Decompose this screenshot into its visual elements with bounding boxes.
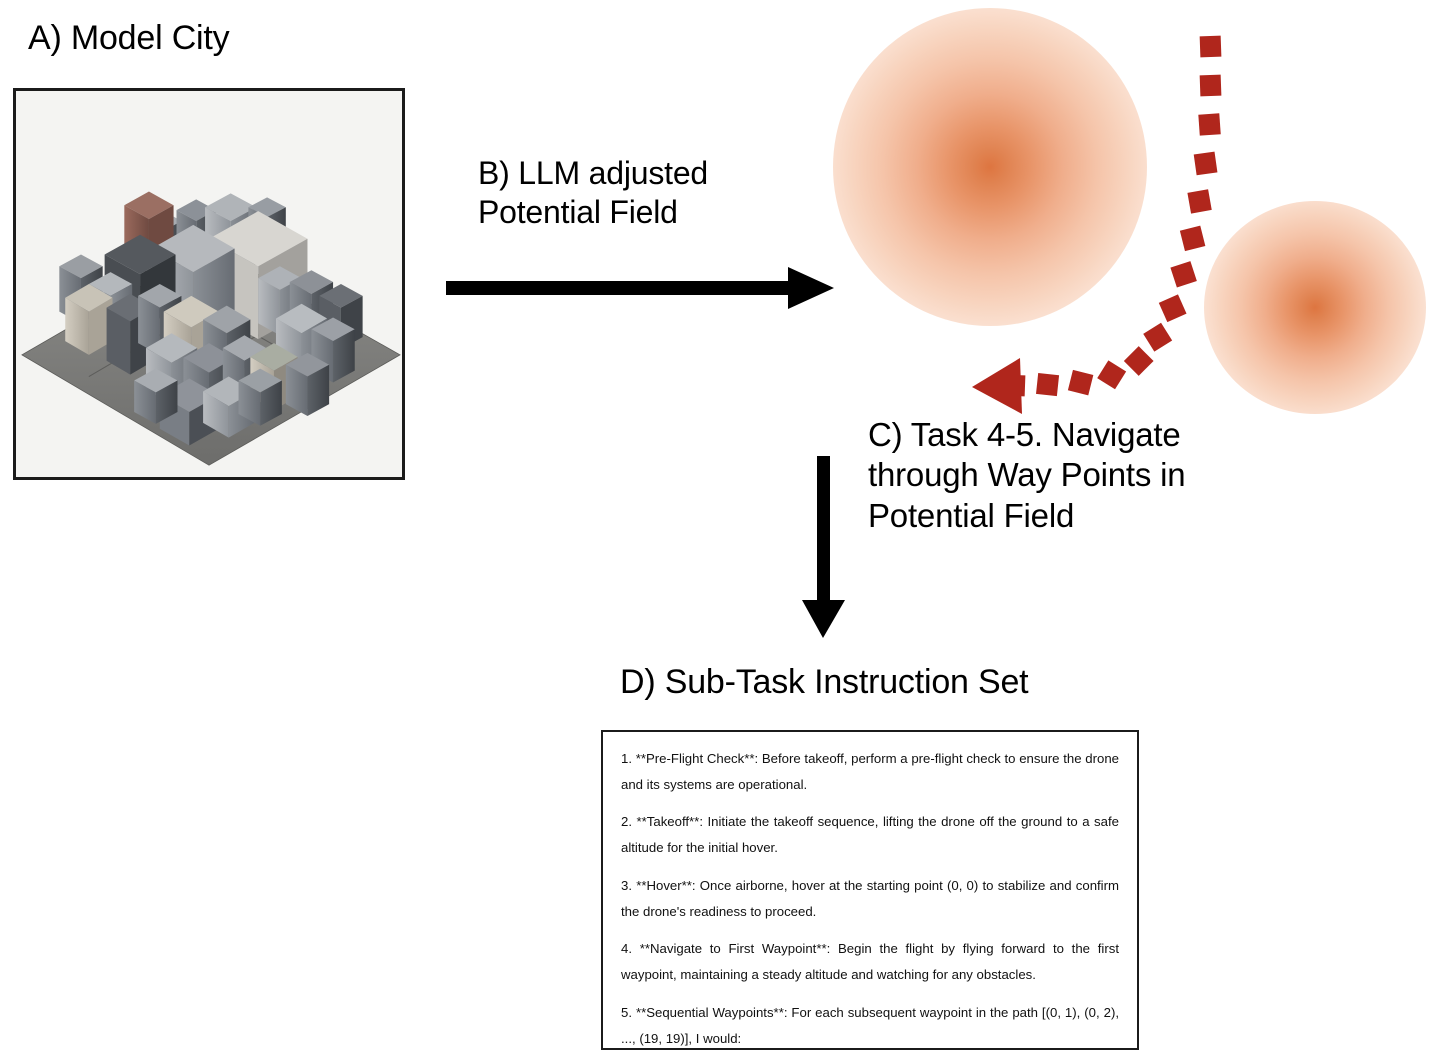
instruction-set-box: 1. **Pre-Flight Check**: Before takeoff,… (601, 730, 1139, 1050)
drone-trajectory-path (960, 10, 1260, 410)
instruction-item: 3. **Hover**: Once airborne, hover at th… (621, 873, 1119, 924)
arrow-right-icon (440, 262, 840, 318)
panel-d-label: D) Sub-Task Instruction Set (620, 662, 1028, 703)
panel-a-label: A) Model City (28, 18, 229, 59)
instruction-item: 1. **Pre-Flight Check**: Before takeoff,… (621, 746, 1119, 797)
instruction-item: 2. **Takeoff**: Initiate the takeoff seq… (621, 809, 1119, 860)
arrow-down-icon (792, 452, 856, 642)
instruction-item: 5. **Sequential Waypoints**: For each su… (621, 1000, 1119, 1050)
model-city-render (16, 91, 402, 477)
panel-c-label: C) Task 4-5. Navigate through Way Points… (868, 415, 1185, 536)
model-city-image-frame (13, 88, 405, 480)
instruction-item: 4. **Navigate to First Waypoint**: Begin… (621, 936, 1119, 987)
figure-canvas: A) Model City (0, 0, 1430, 1064)
panel-b-label: B) LLM adjusted Potential Field (478, 154, 708, 232)
